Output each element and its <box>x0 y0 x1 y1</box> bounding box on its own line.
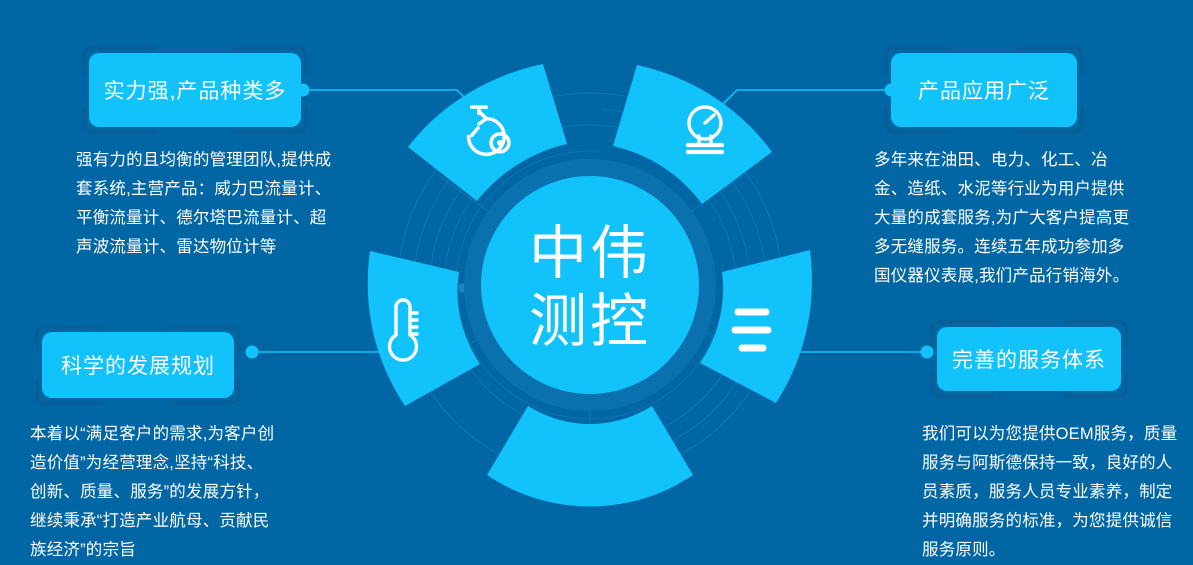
callout-top-right[interactable]: 产品应用广泛 <box>884 46 1084 134</box>
label-pill-bottom-right[interactable]: 完善的服务体系 <box>937 327 1121 391</box>
callout-bottom-left[interactable]: 科学的发展规划 <box>35 325 241 405</box>
callout-bottom-right[interactable]: 完善的服务体系 <box>930 320 1128 398</box>
label-pill-bottom-left[interactable]: 科学的发展规划 <box>42 332 234 398</box>
callout-body-top-right: 多年来在油田、电力、化工、冶 金、造纸、水泥等行业为用户提供 大量的成套服务,为… <box>874 146 1174 291</box>
callout-top-left[interactable]: 实力强,产品种类多 <box>82 46 308 134</box>
callout-title: 科学的发展规划 <box>61 350 215 380</box>
infographic-canvas: 中伟 测控 实力强,产品种类多 强有力的且均衡的管理团队,提供成 套系统,主营产… <box>0 0 1193 561</box>
callout-title: 完善的服务体系 <box>952 344 1106 374</box>
central-diagram: 中伟 测控 <box>330 25 850 545</box>
callout-body-top-left: 强有力的且均衡的管理团队,提供成 套系统,主营产品：威力巴流量计、 平衡流量计、… <box>76 146 356 262</box>
callout-title: 产品应用广泛 <box>918 75 1050 105</box>
label-frame-top-left[interactable]: 实力强,产品种类多 <box>82 46 308 134</box>
callout-body-bottom-right: 我们可以为您提供OEM服务，质量 服务与阿斯德保持一致，良好的人 员素质，服务人… <box>922 420 1193 565</box>
label-pill-top-left[interactable]: 实力强,产品种类多 <box>89 53 301 127</box>
center-title-line1: 中伟 <box>529 221 651 286</box>
center-title-line2: 测控 <box>529 289 651 354</box>
label-frame-bottom-right[interactable]: 完善的服务体系 <box>930 320 1128 398</box>
callout-body-bottom-left: 本着以“满足客户的需求,为客户创 造价值”为经营理念,坚持“科技、 创新、质量、… <box>30 420 315 565</box>
label-pill-top-right[interactable]: 产品应用广泛 <box>891 53 1077 127</box>
label-frame-bottom-left[interactable]: 科学的发展规划 <box>35 325 241 405</box>
label-frame-top-right[interactable]: 产品应用广泛 <box>884 46 1084 134</box>
callout-title: 实力强,产品种类多 <box>104 75 287 105</box>
